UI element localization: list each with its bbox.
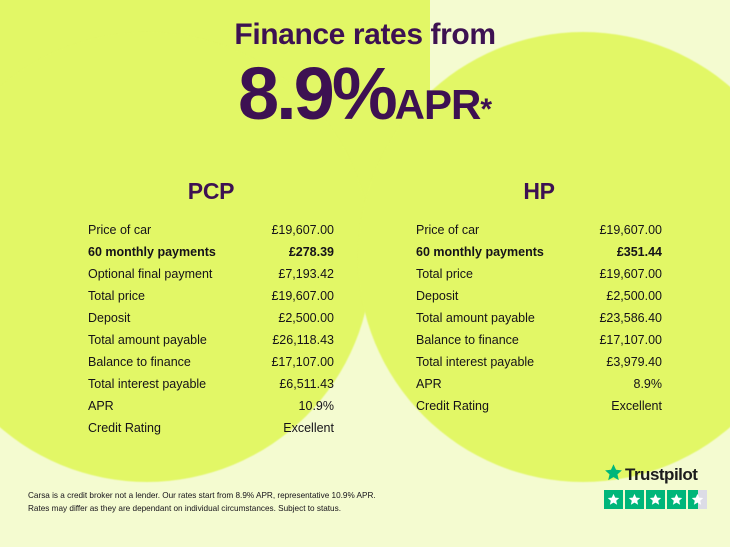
row-value: 8.9% xyxy=(634,373,663,395)
row-value: £17,107.00 xyxy=(599,329,662,351)
row-value: £2,500.00 xyxy=(606,285,662,307)
rating-star-half xyxy=(688,490,707,509)
row-value: £19,607.00 xyxy=(599,219,662,241)
table-row: Optional final payment£7,193.42 xyxy=(88,263,334,285)
table-row: Total interest payable£6,511.43 xyxy=(88,373,334,395)
row-label: Price of car xyxy=(88,219,151,241)
table-row: APR8.9% xyxy=(416,373,662,395)
row-value: Excellent xyxy=(283,417,334,439)
disclaimer: Carsa is a credit broker not a lender. O… xyxy=(28,489,498,515)
rating-star-full xyxy=(604,490,623,509)
row-value: £19,607.00 xyxy=(599,263,662,285)
promo-graphic: Finance rates from 8.9%APR* PCP Price of… xyxy=(0,0,730,547)
trustpilot-star-icon xyxy=(604,463,623,487)
table-row: Credit RatingExcellent xyxy=(88,417,334,439)
row-label: APR xyxy=(416,373,442,395)
row-label: 60 monthly payments xyxy=(416,241,544,263)
row-label: Total interest payable xyxy=(88,373,206,395)
rate-line: 8.9%APR* xyxy=(0,51,730,131)
rating-star-full xyxy=(646,490,665,509)
row-value: £19,607.00 xyxy=(271,219,334,241)
table-row: Price of car£19,607.00 xyxy=(88,219,334,241)
table-row: Deposit£2,500.00 xyxy=(416,285,662,307)
row-value: £7,193.42 xyxy=(278,263,334,285)
rate-value: 8.9% xyxy=(238,52,395,135)
row-value: £26,118.43 xyxy=(272,329,334,351)
table-row: Total amount payable£26,118.43 xyxy=(88,329,334,351)
plan-card-hp: HP Price of car£19,607.0060 monthly paym… xyxy=(416,178,662,417)
rate-unit: APR xyxy=(395,81,481,128)
row-value: £2,500.00 xyxy=(278,307,334,329)
rate-asterisk: * xyxy=(480,93,492,126)
table-row: Total price£19,607.00 xyxy=(416,263,662,285)
row-label: Optional final payment xyxy=(88,263,212,285)
row-label: Total interest payable xyxy=(416,351,534,373)
row-label: Total amount payable xyxy=(88,329,207,351)
table-row: 60 monthly payments£351.44 xyxy=(416,241,662,263)
row-value: £6,511.43 xyxy=(279,373,334,395)
table-row: APR10.9% xyxy=(88,395,334,417)
plan-title-pcp: PCP xyxy=(88,178,334,205)
row-label: Credit Rating xyxy=(88,417,161,439)
table-row: 60 monthly payments£278.39 xyxy=(88,241,334,263)
row-label: Balance to finance xyxy=(416,329,519,351)
header: Finance rates from 8.9%APR* xyxy=(0,0,730,131)
row-value: 10.9% xyxy=(299,395,334,417)
table-row: Total interest payable£3,979.40 xyxy=(416,351,662,373)
table-row: Total price£19,607.00 xyxy=(88,285,334,307)
row-label: Credit Rating xyxy=(416,395,489,417)
row-label: Total price xyxy=(416,263,473,285)
trustpilot-name: Trustpilot xyxy=(625,465,697,485)
plan-rows-hp: Price of car£19,607.0060 monthly payment… xyxy=(416,219,662,417)
row-label: Deposit xyxy=(416,285,458,307)
trustpilot-rating-stars xyxy=(604,490,712,509)
row-label: 60 monthly payments xyxy=(88,241,216,263)
trustpilot-badge[interactable]: Trustpilot xyxy=(604,464,712,509)
row-value: £3,979.40 xyxy=(606,351,662,373)
disclaimer-line-2: Rates may differ as they are dependant o… xyxy=(28,502,498,515)
row-label: Price of car xyxy=(416,219,479,241)
row-value: £351.44 xyxy=(617,241,662,263)
table-row: Price of car£19,607.00 xyxy=(416,219,662,241)
row-value: £17,107.00 xyxy=(271,351,334,373)
row-label: Total amount payable xyxy=(416,307,535,329)
table-row: Balance to finance£17,107.00 xyxy=(88,351,334,373)
row-value: £19,607.00 xyxy=(271,285,334,307)
plan-rows-pcp: Price of car£19,607.0060 monthly payment… xyxy=(88,219,334,439)
table-row: Total amount payable£23,586.40 xyxy=(416,307,662,329)
table-row: Deposit£2,500.00 xyxy=(88,307,334,329)
plan-title-hp: HP xyxy=(416,178,662,205)
page-title: Finance rates from xyxy=(0,0,730,51)
table-row: Balance to finance£17,107.00 xyxy=(416,329,662,351)
row-value: Excellent xyxy=(611,395,662,417)
row-value: £278.39 xyxy=(289,241,334,263)
plan-card-pcp: PCP Price of car£19,607.0060 monthly pay… xyxy=(88,178,334,439)
row-label: Total price xyxy=(88,285,145,307)
disclaimer-line-1: Carsa is a credit broker not a lender. O… xyxy=(28,489,498,502)
row-label: APR xyxy=(88,395,114,417)
row-label: Deposit xyxy=(88,307,130,329)
row-value: £23,586.40 xyxy=(599,307,662,329)
trustpilot-wordmark: Trustpilot xyxy=(604,464,712,486)
table-row: Credit RatingExcellent xyxy=(416,395,662,417)
rating-star-full xyxy=(625,490,644,509)
row-label: Balance to finance xyxy=(88,351,191,373)
rating-star-full xyxy=(667,490,686,509)
